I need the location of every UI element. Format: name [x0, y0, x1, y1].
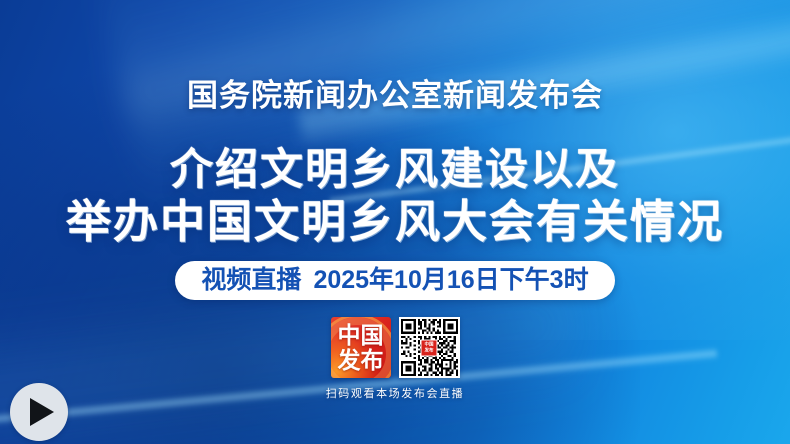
livestream-pill-container: 视频直播 2025年10月16日下午3时	[0, 261, 790, 300]
poster-content: 国务院新闻办公室新闻发布会 介绍文明乡风建设以及 举办中国文明乡风大会有关情况 …	[0, 0, 790, 444]
logo-text-bottom: 发布	[338, 348, 384, 373]
play-button[interactable]	[10, 383, 68, 441]
qr-center-text-bottom: 发布	[425, 348, 434, 354]
poster-footer: 中国 发布	[0, 317, 790, 401]
organizer-heading: 国务院新闻办公室新闻发布会	[0, 70, 790, 115]
china-release-logo: 中国 发布	[331, 317, 391, 378]
brand-and-qr-row: 中国 发布	[331, 317, 460, 378]
title-line-2: 举办中国文明乡风大会有关情况	[0, 196, 790, 248]
livestream-schedule-pill[interactable]: 视频直播 2025年10月16日下午3时	[175, 261, 614, 300]
livestream-datetime: 2025年10月16日下午3时	[313, 268, 588, 293]
play-triangle-icon	[30, 398, 54, 426]
qr-code[interactable]: 中国 发布	[399, 317, 460, 378]
logo-text-top: 中国	[338, 323, 384, 348]
title-line-1: 介绍文明乡风建设以及	[0, 146, 790, 194]
livestream-label: 视频直播	[201, 268, 301, 293]
qr-center-logo: 中国 发布	[421, 339, 438, 356]
main-title: 介绍文明乡风建设以及 举办中国文明乡风大会有关情况	[0, 146, 790, 248]
scan-instruction-caption: 扫码观看本场发布会直播	[326, 385, 465, 401]
press-conference-poster: 国务院新闻办公室新闻发布会 介绍文明乡风建设以及 举办中国文明乡风大会有关情况 …	[0, 0, 790, 444]
